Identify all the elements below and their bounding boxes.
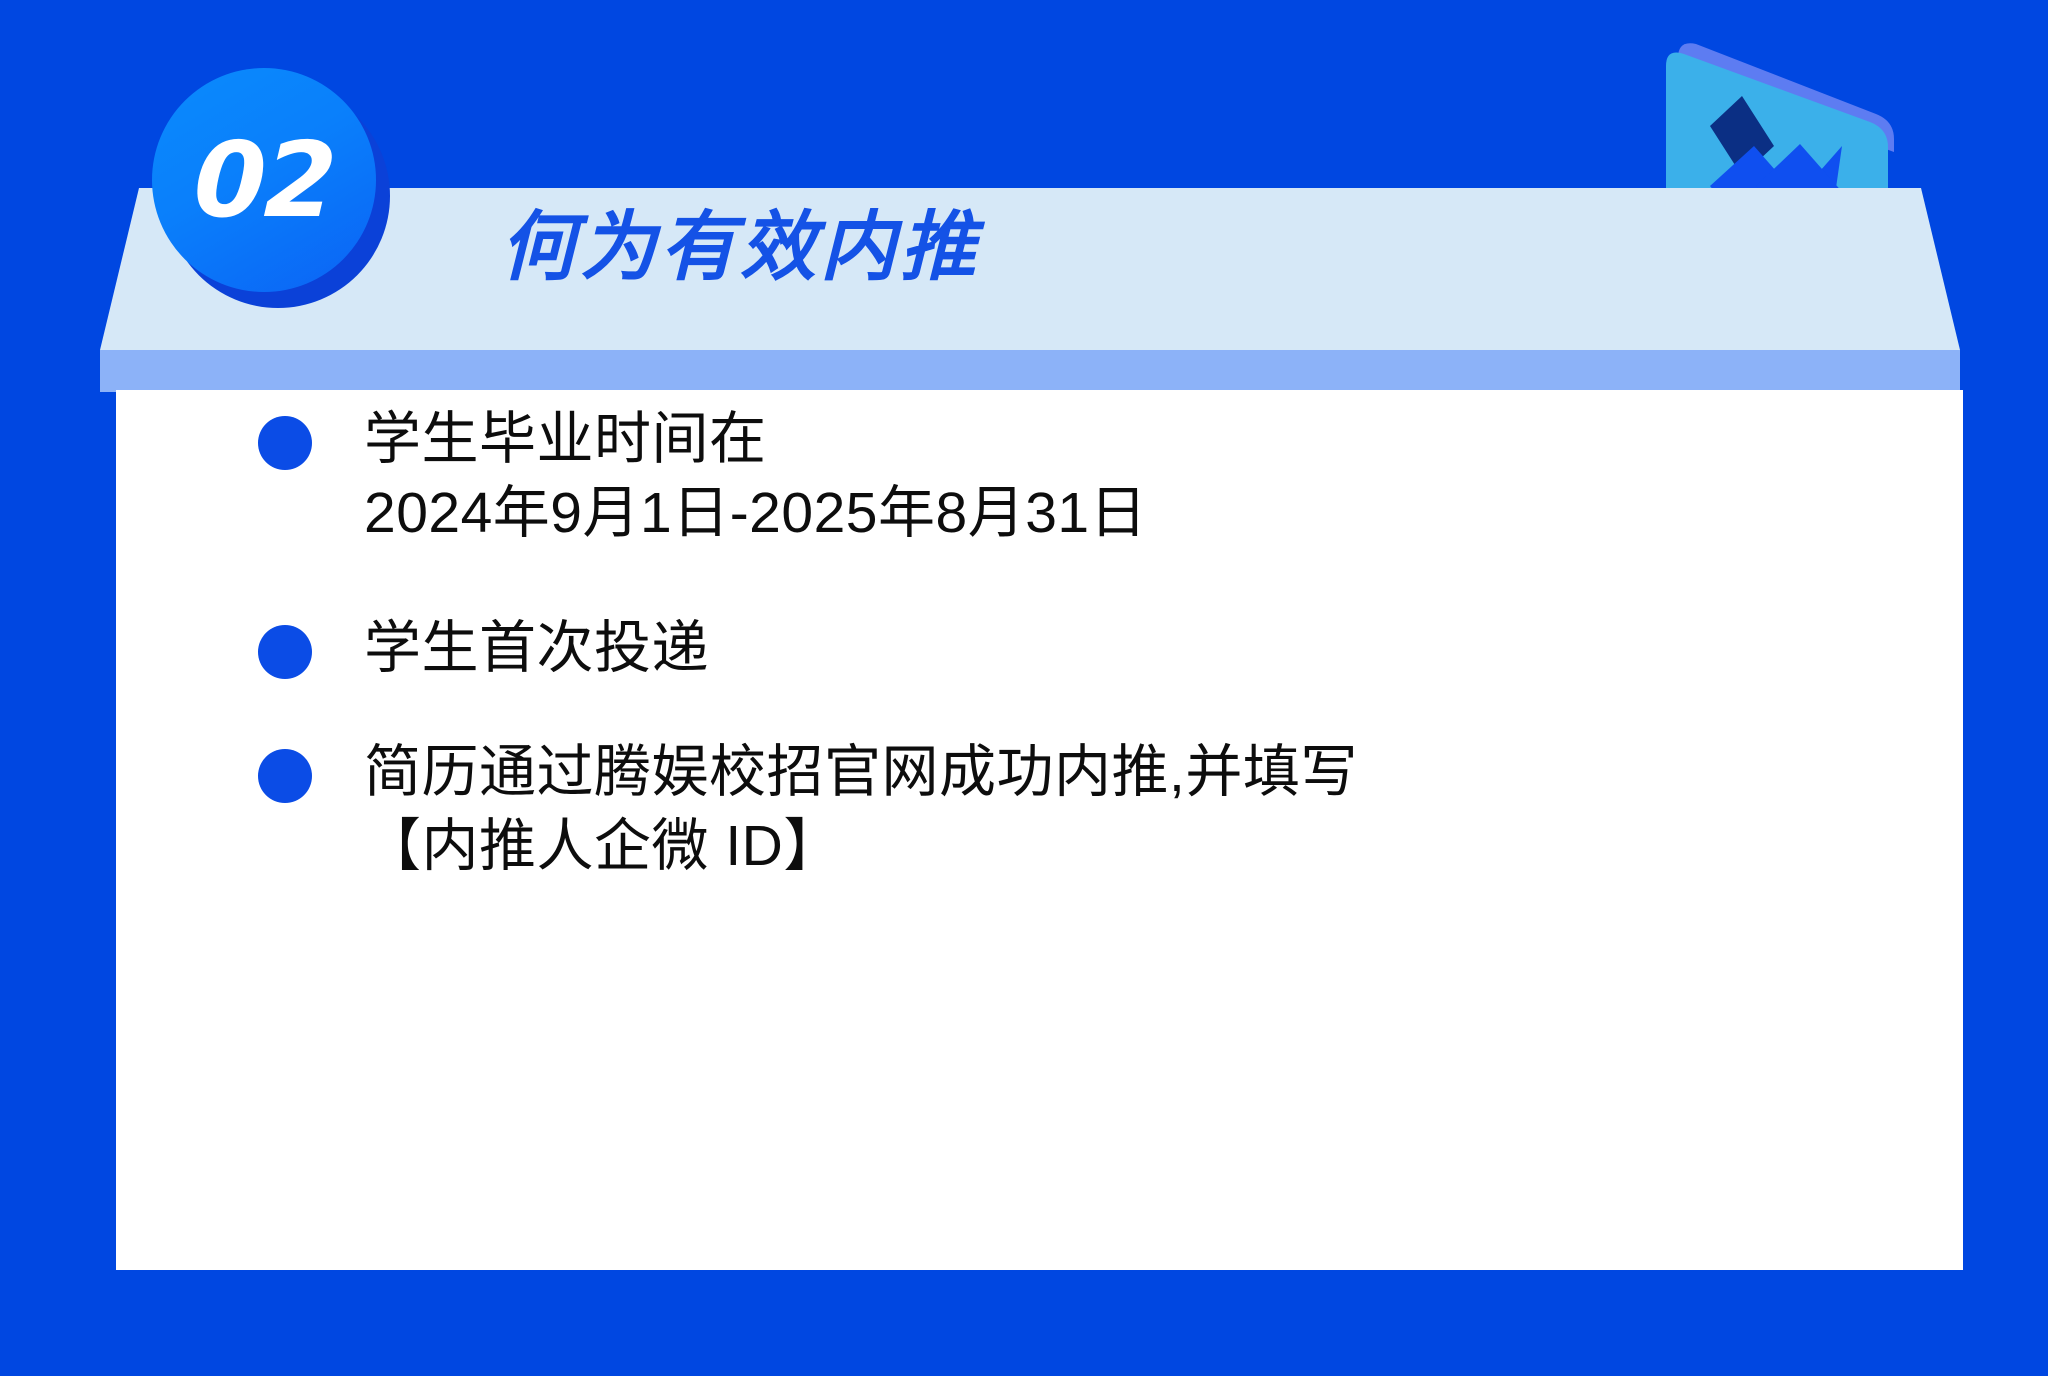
badge-circle: 02 [152, 68, 376, 292]
bullet-dot-icon [258, 416, 312, 470]
page-title: 何为有效内推 [500, 210, 980, 286]
tile-top-bevel [1678, 43, 1894, 152]
list-item-label: 简历通过腾娱校招官网成功内推,并填写 【内推人企微 ID】 [364, 735, 1358, 883]
list-item-label: 学生毕业时间在 2024年9月1日-2025年8月31日 [364, 402, 1147, 550]
badge-number-label: 02 [192, 128, 336, 232]
list-item-label: 学生首次投递 [364, 611, 709, 685]
list-item: 学生毕业时间在 2024年9月1日-2025年8月31日 [258, 402, 1147, 550]
header-banner-accent-strip [0, 350, 2048, 392]
tile-diamond-dark-upper [1710, 96, 1774, 176]
bullet-dot-icon [258, 749, 312, 803]
bullet-dot-icon [258, 625, 312, 679]
slide-root: 02 何为有效内推 学生毕业时间在 2024年9月1日-2025年8月31日 学… [0, 0, 2048, 1376]
list-item: 简历通过腾娱校招官网成功内推,并填写 【内推人企微 ID】 [258, 735, 1358, 883]
section-number-badge: 02 [152, 68, 404, 320]
list-item: 学生首次投递 [258, 611, 709, 685]
